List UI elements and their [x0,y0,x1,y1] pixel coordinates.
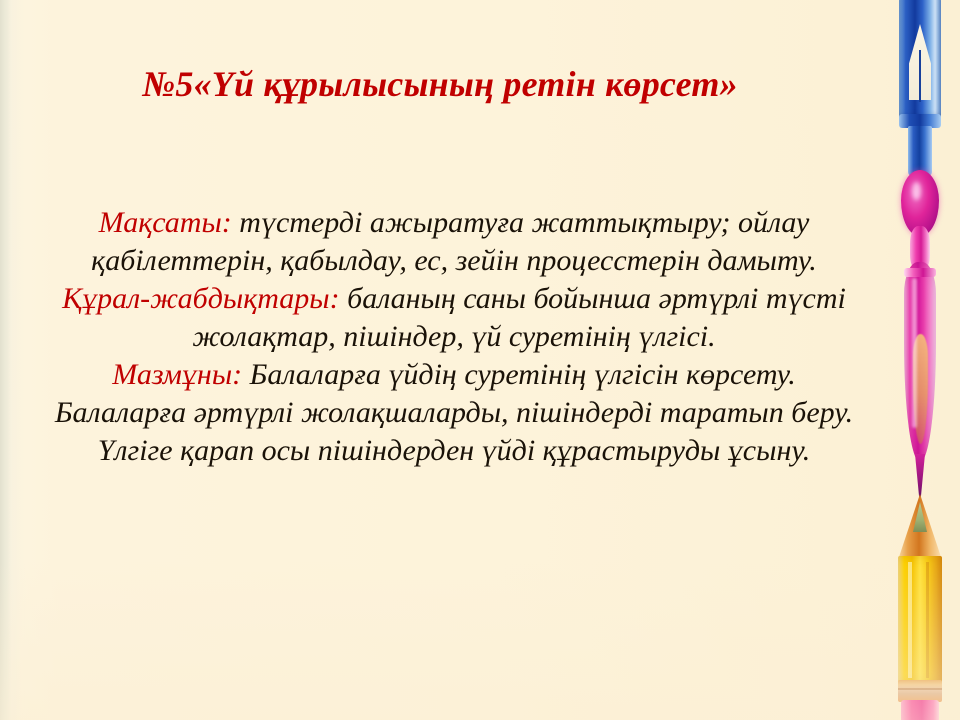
slide-canvas: №5«Үй құрылысының ретін көрсет» Мақсаты:… [0,0,960,720]
body-text-block: Мақсаты: түстерді ажыратуға жаттықтыру; … [44,204,864,470]
paragraph-label-qural-zhabdyqtary: Құрал-жабдықтары: [62,282,339,315]
yellow-pencil-icon [894,494,946,720]
nib-neck [908,126,932,176]
pink-pen-highlight-spot [912,182,921,200]
bottom-sheen [0,560,960,720]
fountain-pen-nib-icon [899,0,941,178]
pink-pen-band [904,268,936,277]
paragraph-maqsaty: Мақсаты: түстерді ажыратуға жаттықтыру; … [44,204,864,280]
paragraph-label-maqsaty: Мақсаты: [99,206,232,239]
paragraph-label-mazmuny: Мазмұны: [112,358,242,391]
pencil-barrel [898,556,942,684]
pencil-gloss-stripe [908,562,912,678]
pink-pen-tip [915,454,925,498]
stationery-decoration [880,0,960,720]
paragraph-mazmuny: Мазмұны: Балаларға үйдің суретінің үлгіс… [44,356,864,470]
nib-slit [919,50,921,102]
pink-pen-icon [892,170,948,500]
pencil-shadow-stripe [926,562,929,678]
pencil-eraser [901,700,939,720]
pencil-ferrule-line [898,688,942,690]
page-title: №5«Үй құрылысының ретін көрсет» [0,64,880,105]
pink-pen-barrel [904,262,936,462]
paragraph-qural-zhabdyqtary: Құрал-жабдықтары: баланың саны бойынша ә… [44,280,864,356]
pencil-ferrule [898,680,942,702]
left-edge-shading [0,0,26,720]
pink-pen-gloss [912,278,917,428]
